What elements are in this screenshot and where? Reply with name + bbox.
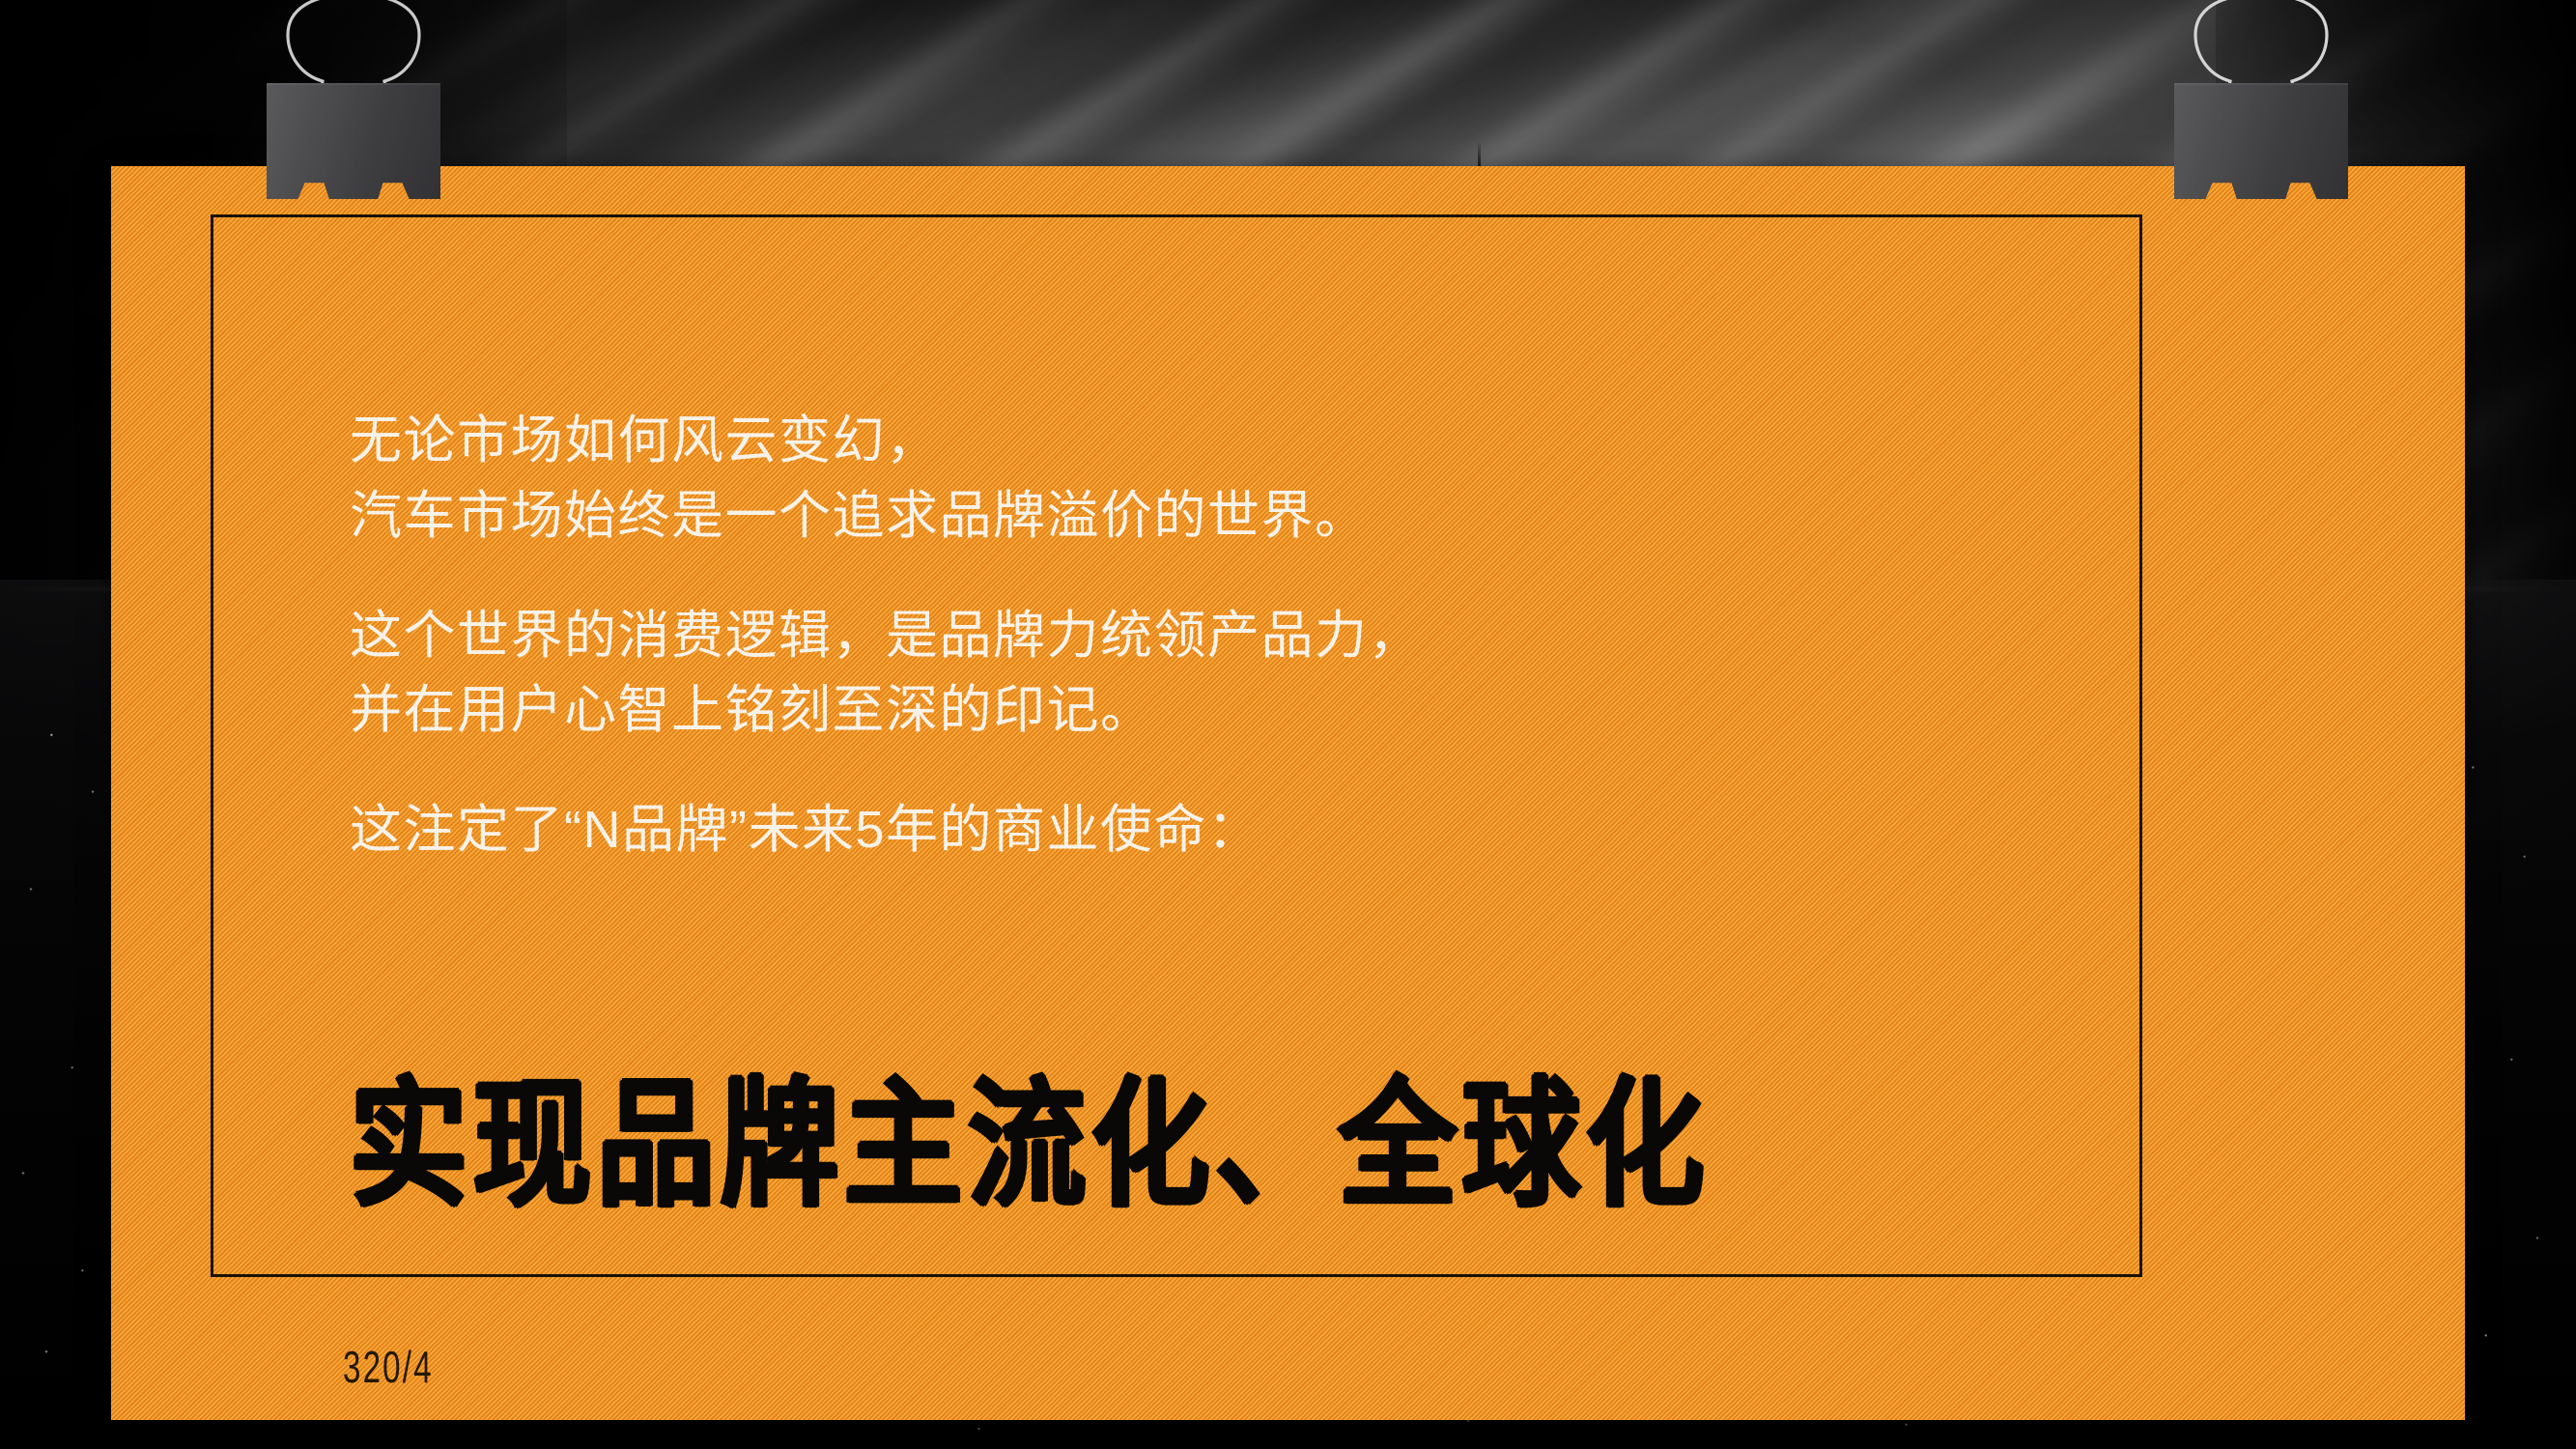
body-text-block: 无论市场如何风云变幻， 汽车市场始终是一个追求品牌溢价的世界。 这个世界的消费逻… [350, 404, 2108, 868]
body-line: 这个世界的消费逻辑，是品牌力统领产品力， [350, 599, 2108, 674]
presentation-slide: 无论市场如何风云变幻， 汽车市场始终是一个追求品牌溢价的世界。 这个世界的消费逻… [0, 0, 2576, 1449]
page-number: 320/4 [343, 1341, 434, 1393]
binder-clip-body [2174, 83, 2348, 199]
binder-clip-right [2166, 0, 2356, 199]
paragraph-3: 这注定了“N品牌”未来5年的商业使命： [350, 793, 2108, 868]
body-line: 这注定了“N品牌”未来5年的商业使命： [350, 793, 2108, 868]
body-line: 并在用户心智上铭刻至深的印记。 [350, 673, 2108, 749]
binder-clip-left [259, 0, 448, 199]
body-line: 汽车市场始终是一个追求品牌溢价的世界。 [350, 479, 2108, 554]
body-line: 无论市场如何风云变幻， [350, 404, 2108, 479]
paragraph-2: 这个世界的消费逻辑，是品牌力统领产品力， 并在用户心智上铭刻至深的印记。 [350, 599, 2108, 750]
paragraph-1: 无论市场如何风云变幻， 汽车市场始终是一个追求品牌溢价的世界。 [350, 404, 2108, 554]
headline-text: 实现品牌主流化、全球化 [350, 1074, 1710, 1213]
binder-clip-body [267, 83, 440, 199]
